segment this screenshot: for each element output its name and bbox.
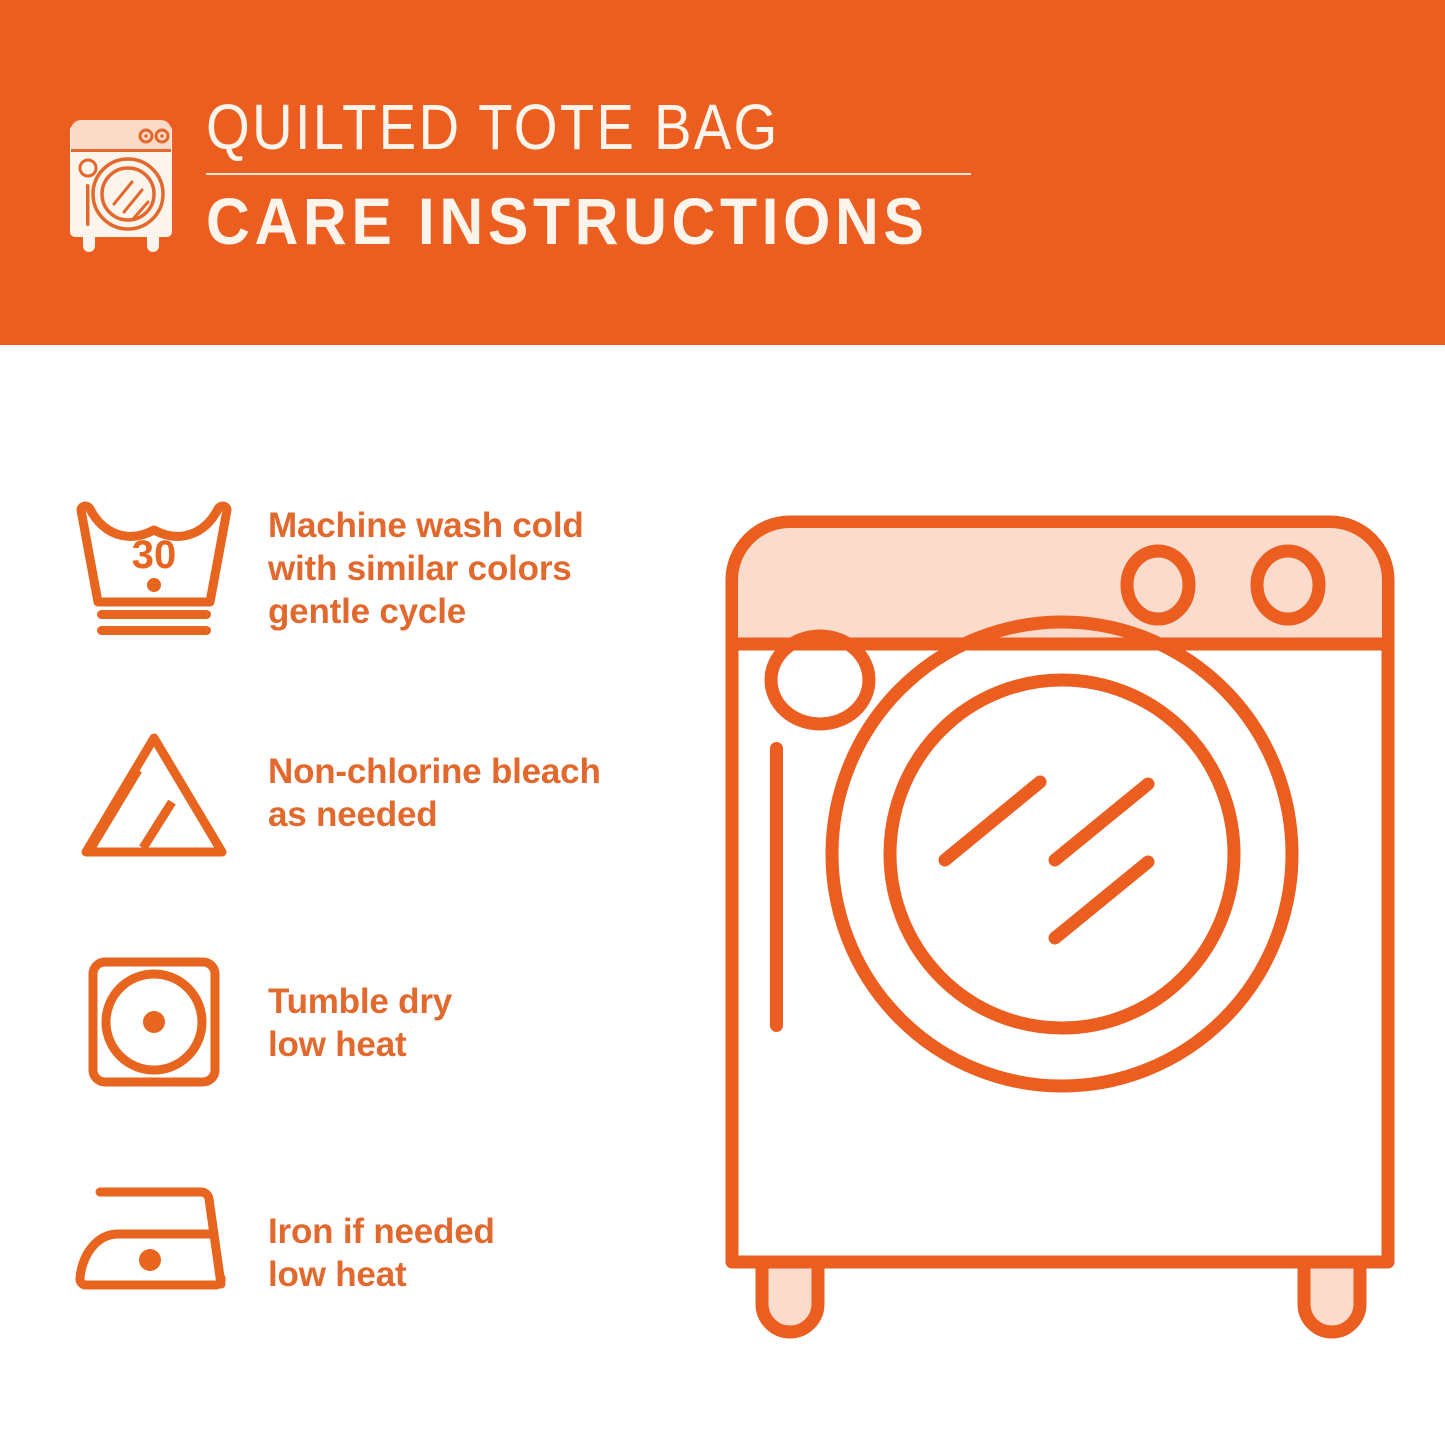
title-divider <box>206 173 971 175</box>
header-banner: QUILTED TOTE BAG CARE INSTRUCTIONS <box>0 0 1445 345</box>
care-symbol-bleach <box>68 708 240 868</box>
wash-temperature-label: 30 <box>132 533 177 577</box>
care-symbol-iron <box>68 1152 240 1312</box>
care-label-bleach: Non-chlorine bleach as needed <box>268 708 601 836</box>
care-instructions-page: QUILTED TOTE BAG CARE INSTRUCTIONS 30 <box>0 0 1445 1445</box>
header-text-block: QUILTED TOTE BAG CARE INSTRUCTIONS <box>206 88 991 259</box>
care-text-line: gentle cycle <box>268 590 584 633</box>
washing-machine-icon <box>62 94 180 254</box>
leg-left <box>762 1262 818 1332</box>
care-text-line: Tumble dry <box>268 980 452 1023</box>
care-text-line: Non-chlorine bleach <box>268 750 601 793</box>
wash-tub-30-gentle-icon: 30 <box>68 492 240 642</box>
header-content: QUILTED TOTE BAG CARE INSTRUCTIONS <box>62 88 991 259</box>
non-chlorine-bleach-triangle-icon <box>68 726 240 866</box>
care-label-machine-wash: Machine wash cold with similar colors ge… <box>268 486 584 633</box>
care-instruction-list: 30 Machine wash cold with similar colors… <box>68 486 688 1374</box>
care-row-iron: Iron if needed low heat <box>68 1152 688 1374</box>
care-text-line: low heat <box>268 1023 452 1066</box>
care-text-line: Machine wash cold <box>268 504 584 547</box>
care-text-line: low heat <box>268 1253 495 1296</box>
care-row-bleach: Non-chlorine bleach as needed <box>68 708 688 930</box>
page-subtitle: CARE INSTRUCTIONS <box>206 183 929 259</box>
leg-right <box>1304 1262 1360 1332</box>
tumble-dry-low-heat-icon <box>68 950 240 1090</box>
care-label-tumble-dry: Tumble dry low heat <box>268 930 452 1066</box>
care-row-machine-wash: 30 Machine wash cold with similar colors… <box>68 486 688 708</box>
page-title: QUILTED TOTE BAG <box>206 90 897 164</box>
care-text-line: as needed <box>268 793 601 836</box>
front-load-washing-machine-illustration <box>700 452 1420 1402</box>
care-row-tumble-dry: Tumble dry low heat <box>68 930 688 1152</box>
status-bar <box>770 742 783 1032</box>
care-text-line: Iron if needed <box>268 1210 495 1253</box>
iron-low-heat-icon <box>68 1180 240 1310</box>
care-label-iron: Iron if needed low heat <box>268 1152 495 1296</box>
care-symbol-wash: 30 <box>68 486 240 646</box>
care-text-line: with similar colors <box>268 547 584 590</box>
care-symbol-tumble-dry <box>68 930 240 1090</box>
